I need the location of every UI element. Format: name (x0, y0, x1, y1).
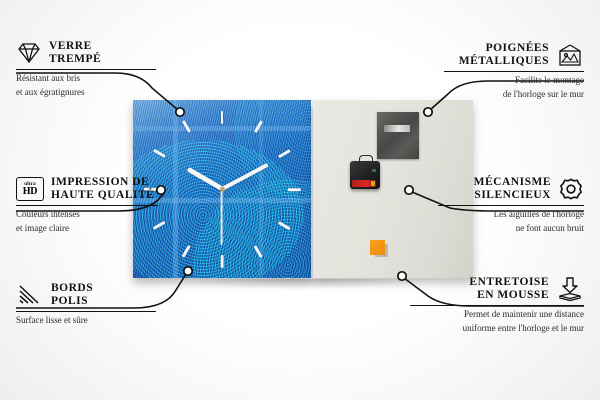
callout-poignees-metalliques: POIGNÉES MÉTALLIQUES Facilite le montage… (444, 42, 584, 100)
callout-bords-polis: BORDS POLIS Surface lisse et sûre (16, 282, 156, 326)
wall-hanger-icon (556, 44, 584, 67)
ultra-hd-icon: ultra HD (16, 177, 44, 201)
callout-title-line1: ENTRETOISE (469, 276, 549, 289)
clock-center-pin (220, 187, 225, 192)
callout-entretoise-en-mousse: ENTRETOISE EN MOUSSE Permet de maintenir… (410, 276, 584, 334)
foam-spacer-icon (556, 277, 584, 301)
callout-desc-line2: ne font aucun bruit (438, 223, 584, 234)
clock-tick (221, 111, 224, 124)
mechanism-switch (372, 169, 376, 172)
callout-title-line2: TREMPÉ (49, 53, 101, 66)
callout-desc-line2: de l'horloge sur le mur (444, 89, 584, 100)
callout-rule (444, 71, 584, 72)
callout-title-line2: HAUTE QUALITÉ (51, 189, 154, 202)
callout-title-line2: EN MOUSSE (469, 289, 549, 302)
callout-desc-line1: Permet de maintenir une distance (410, 309, 584, 320)
diamond-icon (16, 42, 42, 64)
callout-title-line1: POIGNÉES (459, 42, 549, 55)
callout-rule (16, 69, 156, 70)
callout-desc-line1: Facilite le montage (444, 75, 584, 86)
metal-hanger-plate (377, 112, 419, 159)
callout-rule (16, 311, 156, 312)
clock-tick (221, 255, 224, 268)
callout-desc-line2: et aux égratignures (16, 87, 156, 98)
battery (352, 180, 376, 187)
callout-title-line1: VERRE (49, 40, 101, 53)
callout-title-line1: MÉCANISME (474, 176, 551, 189)
quartz-mechanism (350, 161, 380, 189)
callout-rule (16, 205, 158, 206)
callout-impression-haute-qualite: ultra HD IMPRESSION DE HAUTE QUALITÉ Cou… (16, 176, 158, 234)
callout-desc-line1: Résistant aux bris (16, 73, 156, 84)
callout-desc-line2: et image claire (16, 223, 158, 234)
product-panels (133, 100, 473, 278)
callout-title-line2: MÉTALLIQUES (459, 55, 549, 68)
mechanism-hook (359, 155, 373, 164)
infographic-canvas: VERRE TREMPÉ Résistant aux bris et aux é… (0, 0, 600, 400)
clock-second-hand (221, 189, 223, 245)
callout-desc-line2: uniforme entre l'horloge et le mur (410, 323, 584, 334)
callout-title-line2: POLIS (51, 295, 93, 308)
clock-front-panel (133, 100, 311, 278)
callout-rule (438, 205, 584, 206)
callout-title-line2: SILENCIEUX (474, 189, 551, 202)
callout-mecanisme-silencieux: MÉCANISME SILENCIEUX Les aiguilles de l'… (438, 176, 584, 234)
callout-rule (410, 305, 584, 306)
callout-desc-line1: Couleurs intenses (16, 209, 158, 220)
callout-desc-line1: Surface lisse et sûre (16, 315, 156, 326)
callout-title-line1: IMPRESSION DE (51, 176, 154, 189)
ultra-hd-big-label: HD (23, 187, 37, 197)
callout-desc-line1: Les aiguilles de l'horloge (438, 209, 584, 220)
polished-edge-icon (16, 284, 44, 306)
foam-spacer (370, 240, 385, 255)
callout-title-line1: BORDS (51, 282, 93, 295)
gear-icon (558, 177, 584, 202)
hanger-slot (384, 125, 410, 132)
callout-verre-trempe: VERRE TREMPÉ Résistant aux bris et aux é… (16, 40, 156, 98)
clock-tick (287, 188, 300, 191)
